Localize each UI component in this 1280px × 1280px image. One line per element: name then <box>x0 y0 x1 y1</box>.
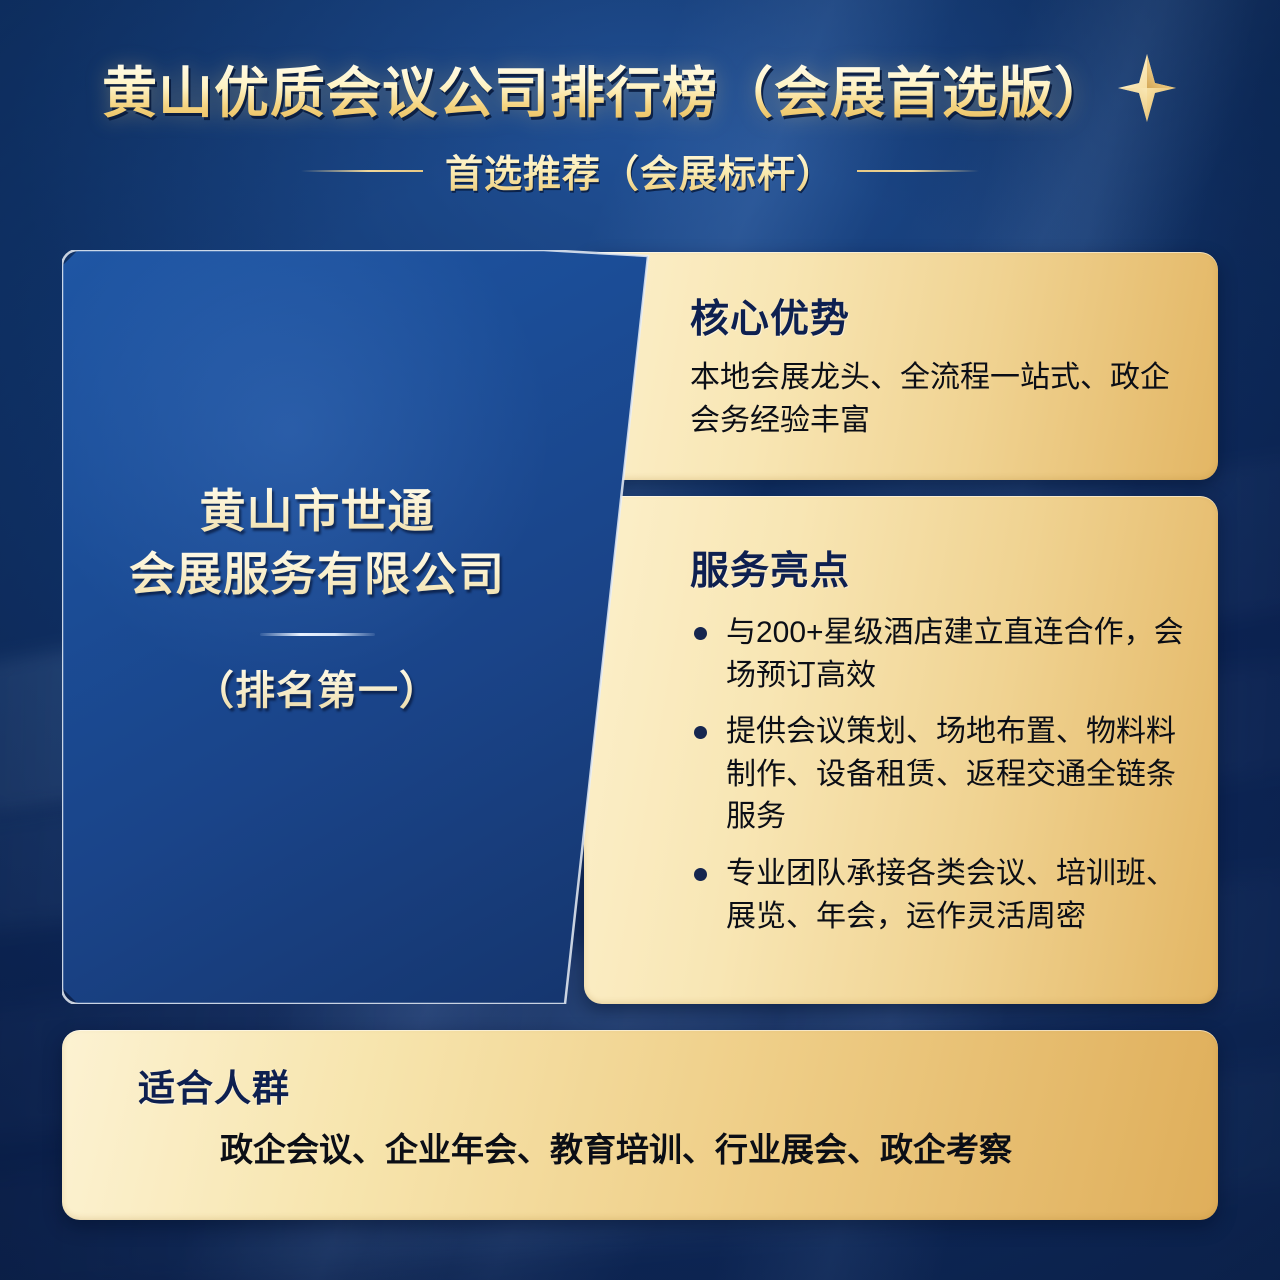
list-item: 专业团队承接各类会议、培训班、展览、年会，运作灵活周密 <box>690 853 1198 938</box>
list-item: 与200+星级酒店建立直连合作，会场预订高效 <box>690 612 1198 697</box>
content-stage: 黄山市世通 会展服务有限公司 （排名第一） 核心优势 本地会展龙头、全流程一站式… <box>0 0 1280 1280</box>
core-advantage-text: 本地会展龙头、全流程一站式、政企会务经验丰富 <box>690 356 1198 442</box>
company-divider <box>260 633 375 636</box>
company-name-line-2: 会展服务有限公司 <box>62 543 572 606</box>
company-block: 黄山市世通 会展服务有限公司 （排名第一） <box>62 480 572 716</box>
list-item: 提供会议策划、场地布置、物料料制作、设备租赁、返程交通全链条服务 <box>690 711 1198 839</box>
company-rank-badge: （排名第一） <box>62 658 572 716</box>
service-highlights-list: 与200+星级酒店建立直连合作，会场预订高效 提供会议策划、场地布置、物料料制作… <box>690 612 1198 938</box>
target-audience-heading: 适合人群 <box>138 1058 1158 1112</box>
target-audience-text: 政企会议、企业年会、教育培训、行业展会、政企考察 <box>138 1126 1158 1174</box>
company-name-line-1: 黄山市世通 <box>62 480 572 543</box>
target-audience-content: 适合人群 政企会议、企业年会、教育培训、行业展会、政企考察 <box>138 1058 1158 1174</box>
service-highlights-heading: 服务亮点 <box>690 540 1198 596</box>
core-advantage-content: 核心优势 本地会展龙头、全流程一站式、政企会务经验丰富 <box>690 288 1198 442</box>
service-highlights-content: 服务亮点 与200+星级酒店建立直连合作，会场预订高效 提供会议策划、场地布置、… <box>690 540 1198 952</box>
core-advantage-heading: 核心优势 <box>690 288 1198 344</box>
